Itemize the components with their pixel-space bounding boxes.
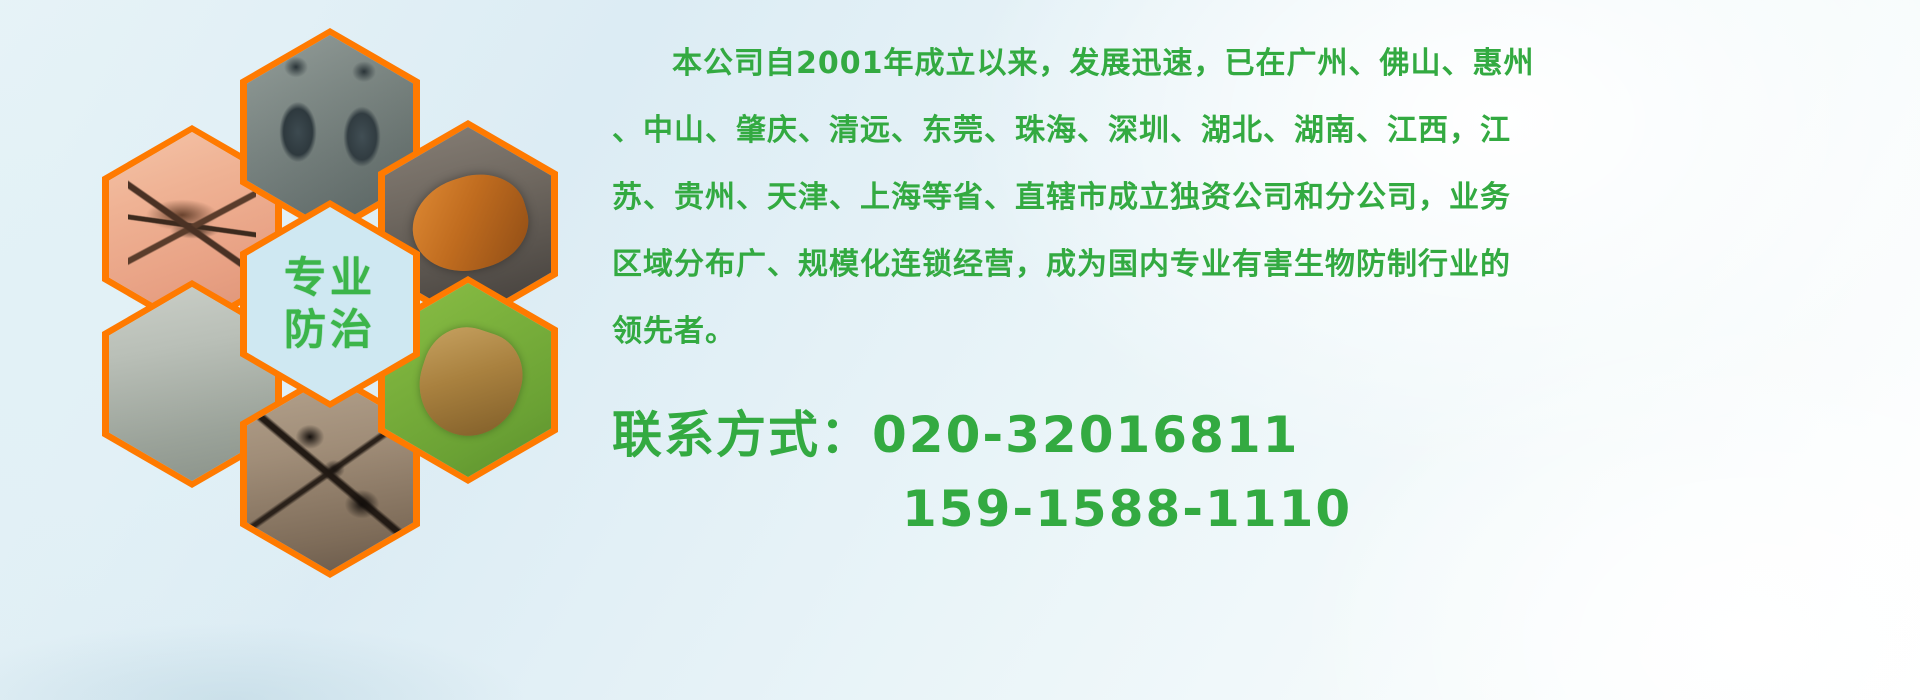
description-line-4: 区域分布广、规模化连锁经营，成为国内专业有害生物防制行业的	[612, 237, 1912, 292]
banner-background: 专业 防治 本公司自2001年成立以来，发展迅速，已在广州、佛山、惠州 、中山、…	[0, 0, 1920, 700]
badge-text: 专业 防治	[284, 252, 376, 357]
contact-primary-line: 联系方式：020-32016811	[612, 398, 1912, 472]
contact-phone-primary[interactable]: 020-32016811	[872, 406, 1299, 464]
description-line-2: 、中山、肇庆、清远、东莞、珠海、深圳、湖北、湖南、江西，江	[612, 103, 1912, 158]
contact-label: 联系方式：	[612, 406, 872, 464]
badge-text-line1: 专业	[284, 252, 376, 305]
badge-text-line2: 防治	[284, 304, 376, 357]
honeycomb-cluster: 专业 防治	[80, 10, 600, 590]
badge-panel: 专业 防治	[247, 207, 413, 401]
company-description: 本公司自2001年成立以来，发展迅速，已在广州、佛山、惠州 、中山、肇庆、清远、…	[612, 36, 1912, 371]
contact-phone-secondary[interactable]: 159-1588-1110	[902, 480, 1352, 538]
contact-secondary-line: 159-1588-1110	[612, 472, 1912, 546]
description-line-3: 苏、贵州、天津、上海等省、直辖市成立独资公司和分公司，业务	[612, 170, 1912, 225]
description-line-5: 领先者。	[612, 304, 1912, 359]
contact-block: 联系方式：020-32016811 159-1588-1110	[612, 398, 1912, 546]
description-line-1: 本公司自2001年成立以来，发展迅速，已在广州、佛山、惠州	[612, 36, 1912, 91]
